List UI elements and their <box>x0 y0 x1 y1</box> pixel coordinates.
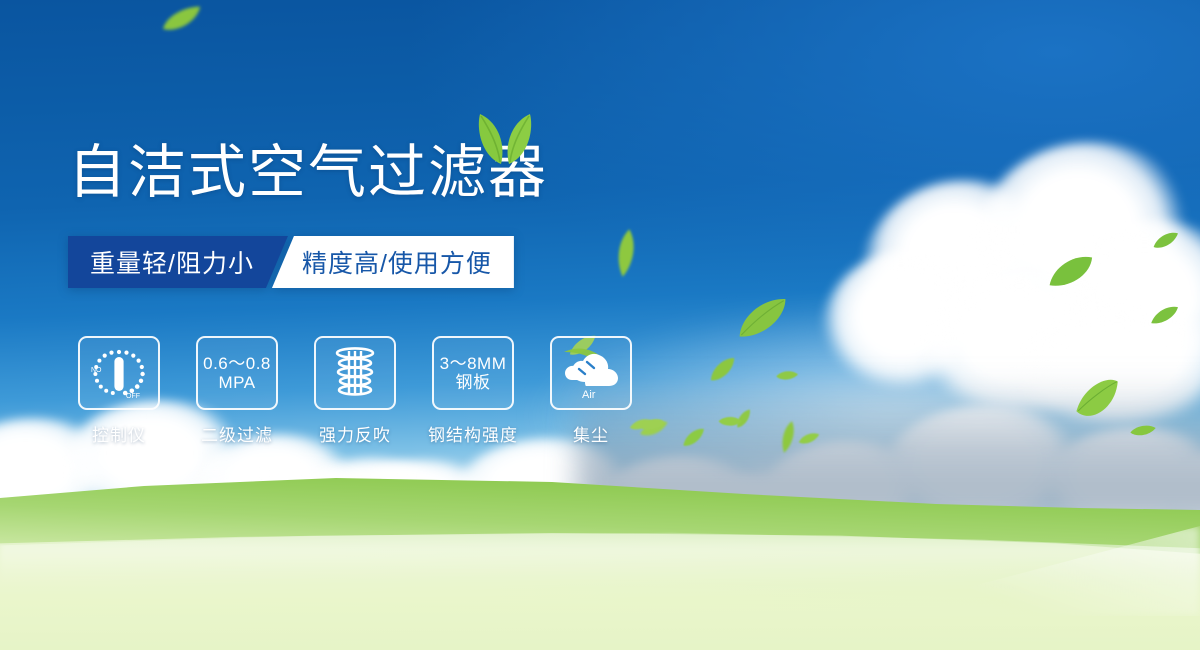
feature-icon-box[interactable]: NO OFF <box>78 336 160 410</box>
feature-icon-box[interactable]: Air <box>550 336 632 410</box>
product-banner: 自洁式空气过滤器 重量轻/阻力小 精度高/使用方便 <box>0 0 1200 650</box>
leaf-icon <box>1130 423 1157 439</box>
feature-item[interactable]: Air 集尘 <box>546 336 636 446</box>
tag-secondary: 精度高/使用方便 <box>272 236 514 288</box>
pressure-unit: MPA <box>203 373 271 392</box>
pressure-text-icon: 0.6～0.8 MPA <box>203 354 271 392</box>
steel-material: 钢板 <box>440 373 507 392</box>
gauge-icon: NO OFF <box>88 344 150 402</box>
air-cloud-icon: Air <box>560 344 622 402</box>
gauge-right-mark: OFF <box>126 393 140 400</box>
feature-item[interactable]: 3～8MM 钢板 钢结构强度 <box>428 336 518 446</box>
gauge-left-mark: NO <box>91 367 102 374</box>
feature-tag-bar: 重量轻/阻力小 精度高/使用方便 <box>68 236 514 288</box>
leaf-icon <box>797 431 820 447</box>
feature-item[interactable]: NO OFF 控制仪 <box>74 336 164 446</box>
sprout-leaves-icon <box>468 112 542 164</box>
feature-icon-row: NO OFF 控制仪 0.6～0.8 MPA 二级过滤 <box>74 336 636 446</box>
blowback-coil-icon <box>329 345 381 401</box>
feature-label: 控制仪 <box>92 421 146 446</box>
steel-plate-text-icon: 3～8MM 钢板 <box>440 354 507 392</box>
steel-thickness: 3～8MM <box>440 354 507 373</box>
feature-label: 集尘 <box>573 421 609 446</box>
feature-icon-box[interactable]: 0.6～0.8 MPA <box>196 336 278 410</box>
leaf-icon <box>639 417 666 434</box>
feature-item[interactable]: 强力反吹 <box>310 336 400 446</box>
feature-icon-box[interactable] <box>314 336 396 410</box>
pressure-value: 0.6～0.8 <box>203 354 271 373</box>
feature-label: 二级过滤 <box>201 421 273 446</box>
air-label: Air <box>582 389 596 401</box>
feature-icon-box[interactable]: 3～8MM 钢板 <box>432 336 514 410</box>
tag-primary: 重量轻/阻力小 <box>68 236 288 288</box>
feature-item[interactable]: 0.6～0.8 MPA 二级过滤 <box>192 336 282 446</box>
feature-label: 强力反吹 <box>319 421 391 446</box>
feature-label: 钢结构强度 <box>428 421 518 446</box>
